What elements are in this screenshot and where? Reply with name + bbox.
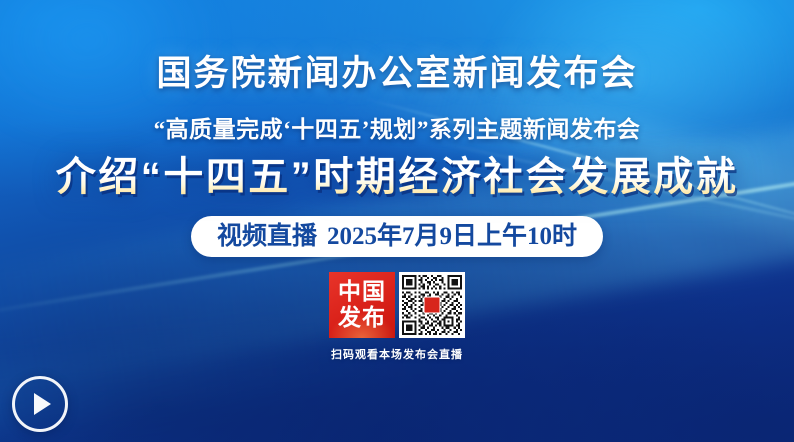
live-datetime: 2025年7月9日上午10时 bbox=[327, 224, 577, 249]
qr-code-icon[interactable] bbox=[399, 272, 465, 338]
play-triangle-glyph bbox=[34, 393, 51, 415]
poster-content: 国务院新闻办公室新闻发布会 “高质量完成‘十四五’规划”系列主题新闻发布会 介绍… bbox=[0, 0, 794, 442]
hero-headline: 介绍“十四五”时期经济社会发展成就 bbox=[56, 155, 739, 200]
brand-line-1: 中国 bbox=[338, 279, 386, 305]
live-label: 视频直播 bbox=[217, 224, 317, 249]
video-poster: 国务院新闻办公室新闻发布会 “高质量完成‘十四五’规划”系列主题新闻发布会 介绍… bbox=[0, 0, 794, 442]
play-icon[interactable] bbox=[12, 376, 68, 432]
china-release-logo-icon: 中国 发布 bbox=[329, 272, 395, 338]
series-subtitle: “高质量完成‘十四五’规划”系列主题新闻发布会 bbox=[154, 118, 641, 141]
brand-line-2: 发布 bbox=[338, 305, 386, 331]
brand-and-qr-row: 中国 发布 bbox=[329, 272, 465, 338]
page-title: 国务院新闻办公室新闻发布会 bbox=[156, 56, 637, 91]
china-release-badge-icon bbox=[424, 296, 441, 313]
qr-caption: 扫码观看本场发布会直播 bbox=[331, 346, 463, 362]
live-schedule-badge: 视频直播 2025年7月9日上午10时 bbox=[191, 216, 603, 257]
